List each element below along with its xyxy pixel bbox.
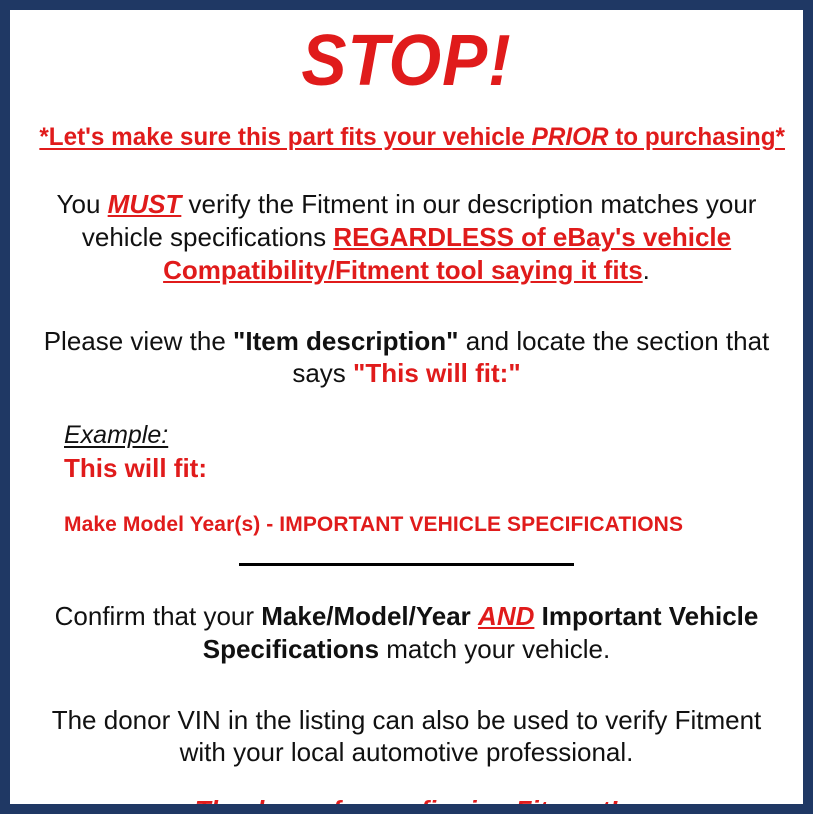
fitment-notice-page: STOP! *Let's make sure this part fits yo…	[0, 0, 813, 814]
example-label: Example:	[64, 422, 168, 450]
and-emphasis: AND	[478, 601, 534, 631]
please-view-paragraph: Please view the "Item description" and l…	[28, 325, 785, 391]
must-part1: You	[57, 189, 108, 219]
donor-vin-paragraph: The donor VIN in the listing can also be…	[28, 704, 785, 770]
must-part3: .	[643, 255, 650, 285]
confirm-part1: Confirm that your	[55, 601, 262, 631]
confirm-space2	[534, 601, 541, 631]
must-emphasis: MUST	[108, 189, 182, 219]
stop-headline: STOP!	[51, 24, 763, 99]
this-will-fit-quote: "This will fit:"	[353, 358, 521, 388]
item-description-emphasis: "Item description"	[233, 326, 458, 356]
confirm-paragraph: Confirm that your Make/Model/Year AND Im…	[28, 600, 785, 666]
subtitle-emphasis-prior: PRIOR	[532, 123, 609, 151]
closing-thank-you-line: Thank you for confirming Fitment!	[28, 795, 785, 814]
section-divider	[28, 563, 785, 566]
subtitle-line: *Let's make sure this part fits your veh…	[39, 123, 773, 153]
confirm-space1	[471, 601, 478, 631]
subtitle-prefix: *Let's make sure this part fits your veh…	[39, 123, 531, 151]
example-fit-heading: This will fit:	[64, 453, 785, 484]
please-part1: Please view the	[44, 326, 233, 356]
example-spec-line: Make Model Year(s) - IMPORTANT VEHICLE S…	[64, 512, 785, 537]
notice-content-area: STOP! *Let's make sure this part fits yo…	[10, 10, 803, 804]
example-label-row: Example:	[64, 422, 785, 450]
make-model-year-emphasis: Make/Model/Year	[261, 601, 471, 631]
subtitle-suffix: to purchasing*	[608, 123, 785, 151]
divider-rule	[239, 563, 574, 566]
must-verify-paragraph: You MUST verify the Fitment in our descr…	[28, 188, 785, 286]
example-block: Example: This will fit: Make Model Year(…	[28, 422, 785, 537]
confirm-part2: match your vehicle.	[379, 634, 610, 664]
